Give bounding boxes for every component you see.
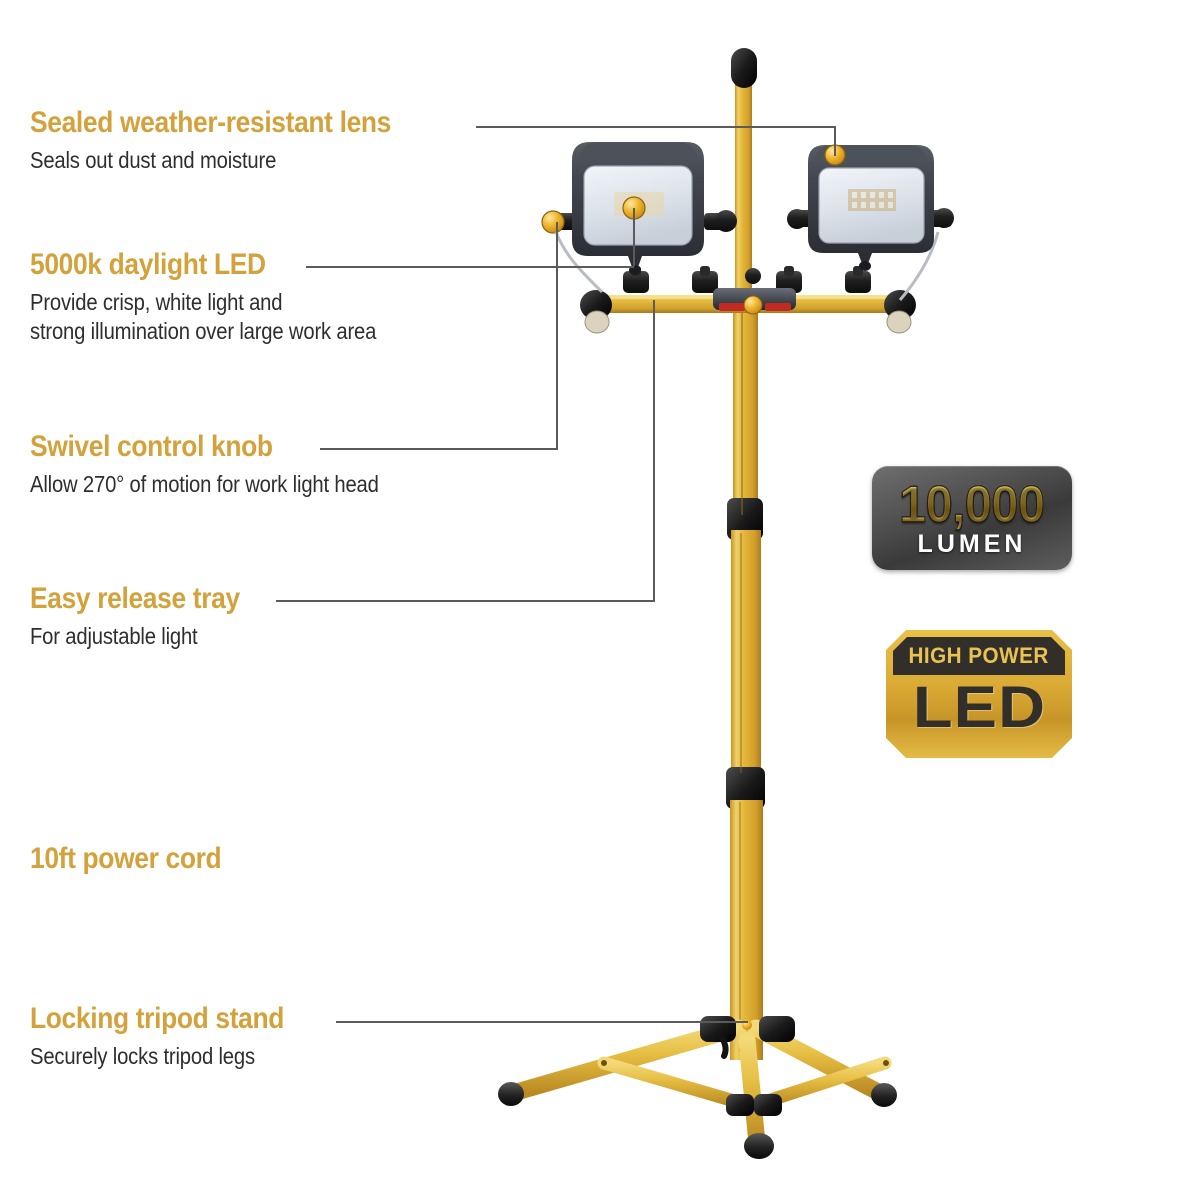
leader-line-tripod-stand-h	[336, 1021, 748, 1023]
leader-line-swivel-knob-v	[556, 222, 558, 450]
tripod-stand	[498, 1016, 897, 1159]
callout-sub-sealed-lens: Seals out dust and moisture	[30, 146, 391, 175]
callout-power-cord: 10ft power cord	[30, 842, 247, 876]
product-feature-infographic: Sealed weather-resistant lens Seals out …	[0, 0, 1200, 1200]
lumen-badge: 10,000 LUMEN	[872, 466, 1072, 570]
lumen-badge-unit: LUMEN	[918, 531, 1027, 557]
leader-line-release-tray-h	[276, 600, 655, 602]
high-power-led-badge: HIGH POWER LED	[886, 630, 1072, 758]
callout-release-tray: Easy release tray For adjustable light	[30, 582, 268, 651]
led-label: LED	[912, 677, 1045, 739]
callout-title-sealed-lens: Sealed weather-resistant lens	[30, 106, 391, 140]
callout-sub-swivel-knob: Allow 270° of motion for work light head	[30, 470, 379, 499]
callout-swivel-knob: Swivel control knob Allow 270° of motion…	[30, 430, 426, 499]
high-power-label: HIGH POWER	[909, 643, 1049, 669]
leader-line-sealed-lens-h	[476, 126, 835, 128]
lumen-badge-value: 10,000	[899, 480, 1044, 530]
callout-sub-tripod-stand: Securely locks tripod legs	[30, 1042, 284, 1071]
callout-title-swivel-knob: Swivel control knob	[30, 430, 379, 464]
callout-tripod-stand: Locking tripod stand Securely locks trip…	[30, 1002, 319, 1071]
callout-sub-daylight-led: Provide crisp, white light and strong il…	[30, 288, 376, 346]
mast	[726, 48, 765, 1060]
leader-line-sealed-lens-v	[834, 126, 836, 156]
high-power-bar: HIGH POWER	[893, 637, 1065, 675]
callout-title-tripod-stand: Locking tripod stand	[30, 1002, 284, 1036]
callout-sub-release-tray: For adjustable light	[30, 622, 240, 651]
callout-title-power-cord: 10ft power cord	[30, 842, 221, 876]
leader-line-daylight-led-v	[633, 208, 635, 266]
callout-title-release-tray: Easy release tray	[30, 582, 240, 616]
callout-daylight-led: 5000k daylight LED Provide crisp, white …	[30, 248, 423, 346]
callout-title-daylight-led: 5000k daylight LED	[30, 248, 376, 282]
callout-sealed-lens: Sealed weather-resistant lens Seals out …	[30, 106, 440, 175]
leader-line-release-tray-v	[653, 300, 655, 602]
